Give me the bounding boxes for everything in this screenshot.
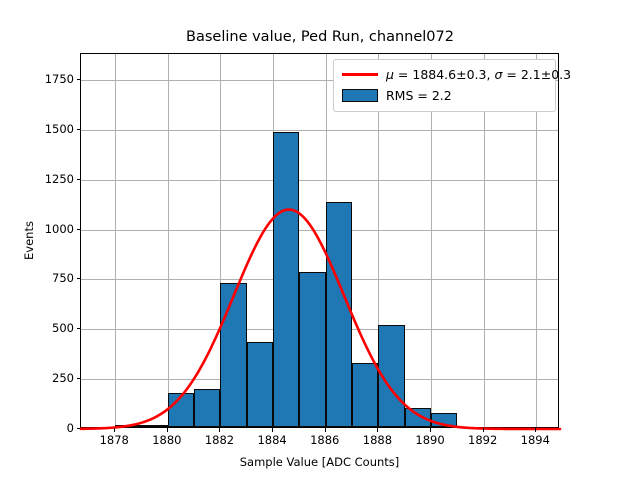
x-tick-mark (114, 428, 115, 432)
x-tick-mark (219, 428, 220, 432)
y-tick-mark (77, 229, 81, 230)
x-tick-mark (535, 428, 536, 432)
x-tick-label: 1882 (205, 433, 234, 447)
y-tick-label: 1750 (45, 72, 74, 86)
x-tick-label: 1894 (521, 433, 550, 447)
y-tick-mark (77, 428, 81, 429)
x-tick-mark (325, 428, 326, 432)
figure: Baseline value, Ped Run, channel072 Even… (0, 0, 640, 480)
y-tick-label: 500 (52, 321, 74, 335)
x-tick-mark (430, 428, 431, 432)
x-tick-label: 1884 (257, 433, 286, 447)
x-tick-label: 1886 (310, 433, 339, 447)
y-tick-mark (77, 378, 81, 379)
y-tick-label: 750 (52, 271, 74, 285)
legend-label-rms: RMS = 2.2 (386, 88, 452, 103)
x-tick-label: 1888 (363, 433, 392, 447)
x-tick-label: 1880 (152, 433, 181, 447)
legend-label-fit: μ = 1884.6±0.3, σ = 2.1±0.3 (386, 67, 571, 82)
y-tick-mark (77, 129, 81, 130)
x-tick-label: 1878 (100, 433, 129, 447)
x-tick-label: 1892 (468, 433, 497, 447)
y-tick-labels: 02505007501000125015001750 (26, 0, 74, 480)
x-tick-label: 1890 (415, 433, 444, 447)
y-tick-mark (77, 79, 81, 80)
y-tick-label: 1000 (45, 222, 74, 236)
y-tick-label: 1250 (45, 172, 74, 186)
x-tick-mark (483, 428, 484, 432)
y-tick-mark (77, 328, 81, 329)
legend-line-swatch (342, 73, 378, 76)
x-tick-mark (272, 428, 273, 432)
legend-item-rms: RMS = 2.2 (340, 85, 549, 106)
legend: μ = 1884.6±0.3, σ = 2.1±0.3 RMS = 2.2 (333, 59, 556, 112)
y-tick-label: 1500 (45, 122, 74, 136)
legend-patch-swatch (342, 89, 378, 102)
y-tick-mark (77, 278, 81, 279)
x-tick-mark (377, 428, 378, 432)
legend-item-fit: μ = 1884.6±0.3, σ = 2.1±0.3 (340, 64, 549, 85)
chart-title: Baseline value, Ped Run, channel072 (0, 29, 640, 45)
x-tick-mark (167, 428, 168, 432)
y-tick-mark (77, 179, 81, 180)
y-tick-label: 250 (52, 371, 74, 385)
y-tick-label: 0 (67, 421, 74, 435)
x-axis-label: Sample Value [ADC Counts] (80, 455, 559, 469)
